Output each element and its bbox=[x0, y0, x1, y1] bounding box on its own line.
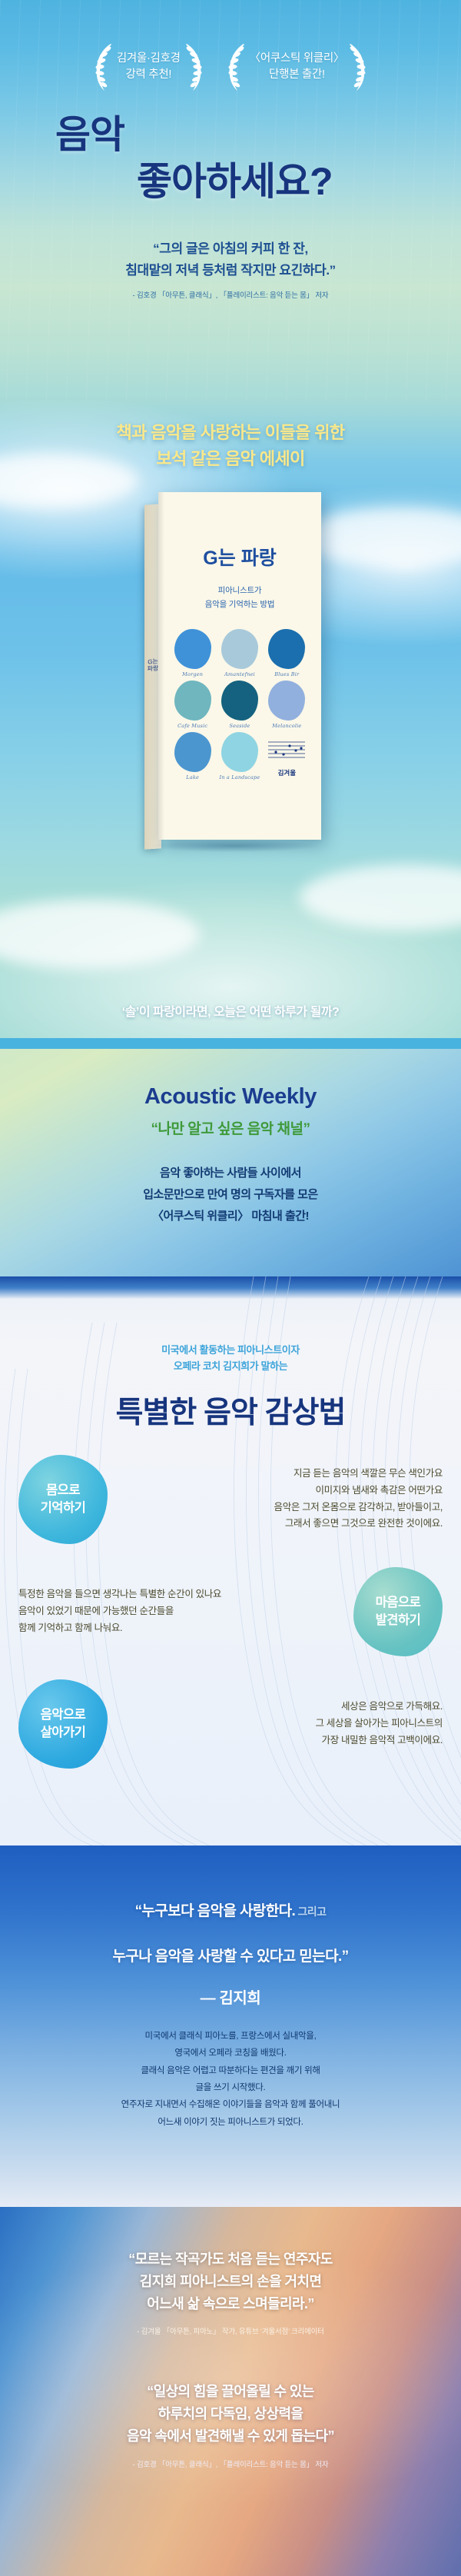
bio-quote: “누구보다 음악을 사랑한다. 그리고 누구나 음악을 사랑할 수 있다고 믿는… bbox=[0, 1845, 461, 1969]
acoustic-weekly-section: Acoustic Weekly “나만 알고 싶은 음악 채널” 음악 좋아하는… bbox=[0, 1038, 461, 1276]
badge-row: 김겨울·김호경 강력 추천! bbox=[0, 0, 461, 92]
swatch-caption: Amantefnei bbox=[217, 671, 261, 677]
promo-page: 김겨울·김호경 강력 추천! bbox=[0, 0, 461, 2576]
book-cover-subtitle: 피아니스트가 음악을 기억하는 방법 bbox=[158, 584, 321, 612]
method-section: 미국에서 활동하는 피아니스트이자 오페라 코치 김지희가 말하는 특별한 음악… bbox=[0, 1276, 461, 1845]
color-blob bbox=[174, 681, 211, 721]
swatch-caption: Seaside bbox=[217, 723, 261, 729]
swatch-caption: Morgen bbox=[171, 671, 214, 677]
badge-recommendation: 김겨울·김호경 강력 추천! bbox=[92, 42, 205, 92]
color-blob bbox=[268, 681, 305, 721]
method-item-2-text: 특정한 음악을 들으면 생각나는 특별한 순간이 있나요 음악이 있었기 때문에… bbox=[18, 1586, 343, 1637]
book-section-headline: 책과 음악을 사랑하는 이들을 위한 보석 같은 음악 에세이 bbox=[0, 400, 461, 472]
method-item-2-label: 마음으로 발견하기 bbox=[353, 1567, 443, 1656]
swatch-item: Cafe Music bbox=[171, 681, 214, 729]
endorsement-block: “모르는 작곡가도 처음 듣는 연주자도 김지희 피아니스트의 손을 거치면 어… bbox=[0, 2207, 461, 2469]
endorsement-section: “모르는 작곡가도 처음 듣는 연주자도 김지희 피아니스트의 손을 거치면 어… bbox=[0, 2207, 461, 2576]
swatch-item: 김겨울 bbox=[265, 732, 309, 780]
color-blob bbox=[174, 732, 211, 772]
bio-author-name: ― 김지희 bbox=[0, 1985, 461, 2008]
swatch-item: Blues Bir bbox=[265, 629, 309, 677]
badge-publication: 〈어쿠스틱 위클리〉 단행본 출간! bbox=[225, 42, 369, 92]
music-staff-icon bbox=[268, 740, 305, 760]
acoustic-weekly-title: Acoustic Weekly bbox=[0, 1038, 461, 1110]
bio-section: “누구보다 음악을 사랑한다. 그리고 누구나 음악을 사랑할 수 있다고 믿는… bbox=[0, 1845, 461, 2207]
method-item-1: 몸으로 기억하기 지금 듣는 음악의 색깔은 무슨 색인가요 이미지와 냄새와 … bbox=[0, 1455, 461, 1544]
swatch-item: In a Landscape bbox=[217, 732, 261, 780]
method-item-3-text: 세상은 음악으로 가득해요. 그 세상을 살아가는 피아니스트의 가장 내밀한 … bbox=[118, 1699, 443, 1749]
acoustic-weekly-subtitle: “나만 알고 싶은 음악 채널” bbox=[0, 1117, 461, 1138]
swatch-item: Morgen bbox=[171, 629, 214, 677]
book-cover-title: G는 파랑 bbox=[158, 543, 321, 571]
swatch-caption: Melancolie bbox=[265, 723, 309, 729]
color-blob bbox=[221, 732, 258, 772]
hero-quote-credit: - 김호경 「아무튼, 클래식」, 「플레이리스트: 음악 듣는 몸」 저자 bbox=[0, 289, 461, 300]
color-blob bbox=[221, 629, 258, 669]
laurel-wreath-icon bbox=[225, 42, 248, 92]
badge-publication-label: 〈어쿠스틱 위클리〉 단행본 출간! bbox=[250, 51, 344, 83]
laurel-wreath-icon bbox=[346, 42, 369, 92]
swatch-caption: In a Landscape bbox=[217, 774, 261, 780]
color-blob bbox=[174, 629, 211, 669]
page-title: 음악 좋아하세요? bbox=[0, 112, 461, 205]
bio-body: 미국에서 클래식 피아노를, 프랑스에서 실내악을, 영국에서 오페라 코칭을 … bbox=[0, 2028, 461, 2132]
endorsement-quote-1: “모르는 작곡가도 처음 듣는 연주자도 김지희 피아니스트의 손을 거치면 어… bbox=[0, 2207, 461, 2315]
book-front-cover: G는 파랑 피아니스트가 음악을 기억하는 방법 Morgen Amantefn… bbox=[158, 492, 321, 840]
method-item-3: 음악으로 살아가기 세상은 음악으로 가득해요. 그 세상을 살아가는 피아니스… bbox=[0, 1679, 461, 1769]
book-cover-swatch-grid: Morgen Amantefnei Blues Bir Cafe Music bbox=[171, 629, 309, 780]
laurel-wreath-icon bbox=[182, 42, 205, 92]
laurel-wreath-icon bbox=[92, 42, 115, 92]
book-section: 책과 음악을 사랑하는 이들을 위한 보석 같은 음악 에세이 G는 파랑 G는… bbox=[0, 400, 461, 1038]
book-mockup: G는 파랑 G는 파랑 피아니스트가 음악을 기억하는 방법 Morgen Am… bbox=[131, 492, 330, 854]
page-title-line1: 음악 bbox=[0, 112, 461, 158]
method-kicker: 미국에서 활동하는 피아니스트이자 오페라 코치 김지희가 말하는 bbox=[0, 1276, 461, 1375]
bio-quote-line2: 누구나 음악을 사랑할 수 있다고 믿는다.” bbox=[112, 1949, 348, 1965]
swatch-caption: Cafe Music bbox=[171, 723, 214, 729]
book-cover-author: 김겨울 bbox=[265, 768, 309, 777]
badge-recommendation-label: 김겨울·김호경 강력 추천! bbox=[117, 51, 181, 83]
method-item-2: 마음으로 발견하기 특정한 음악을 들으면 생각나는 특별한 순간이 있나요 음… bbox=[0, 1567, 461, 1656]
cloud-decoration bbox=[0, 900, 200, 969]
book-section-footer-line: ‘솔’이 파랑이라면, 오늘은 어떤 하루가 될까? bbox=[0, 1001, 461, 1020]
hero-quote: “그의 글은 아침의 커피 한 잔, 침대맡의 저녁 등처럼 작지만 요긴하다.… bbox=[0, 238, 461, 281]
method-title: 특별한 음악 감상법 bbox=[0, 1389, 461, 1432]
method-item-3-label: 음악으로 살아가기 bbox=[18, 1679, 108, 1769]
book-shadow bbox=[151, 840, 318, 852]
color-blob bbox=[221, 681, 258, 721]
swatch-caption: Lake bbox=[171, 774, 214, 780]
endorsement-credit-2: - 김호경 「아무튼, 클래식」, 「플레이리스트: 음악 듣는 몸」 저자 bbox=[0, 2458, 461, 2469]
bio-quote-line1-dim: 그리고 bbox=[295, 1905, 326, 1918]
bio-quote-line1: “누구보다 음악을 사랑한다. bbox=[135, 1903, 296, 1919]
acoustic-weekly-body: 음악 좋아하는 사람들 사이에서 입소문만으로 만여 명의 구독자를 모은 〈어… bbox=[0, 1163, 461, 1226]
swatch-item: Melancolie bbox=[265, 681, 309, 729]
endorsement-credit-1: - 김겨울 「아무튼, 피아노」 작가, 유튜브 ‘겨울서점’ 크리에이터 bbox=[0, 2325, 461, 2336]
swatch-caption: Blues Bir bbox=[265, 671, 309, 677]
method-item-1-label: 몸으로 기억하기 bbox=[18, 1455, 108, 1544]
endorsement-quote-2: “일상의 힘을 끌어올릴 수 있는 하루치의 다독임, 상상력을 음악 속에서 … bbox=[0, 2381, 461, 2447]
swatch-item: Amantefnei bbox=[217, 629, 261, 677]
method-item-1-text: 지금 듣는 음악의 색깔은 무슨 색인가요 이미지와 냄새와 촉감은 어떤가요 … bbox=[118, 1466, 443, 1533]
swatch-item: Lake bbox=[171, 732, 214, 780]
swatch-item: Seaside bbox=[217, 681, 261, 729]
page-title-line2: 좋아하세요? bbox=[0, 159, 461, 205]
hero-section: 김겨울·김호경 강력 추천! bbox=[0, 0, 461, 400]
cloud-decoration bbox=[300, 864, 461, 930]
book-spine-title: G는 파랑 bbox=[147, 658, 159, 673]
color-blob bbox=[268, 629, 305, 669]
